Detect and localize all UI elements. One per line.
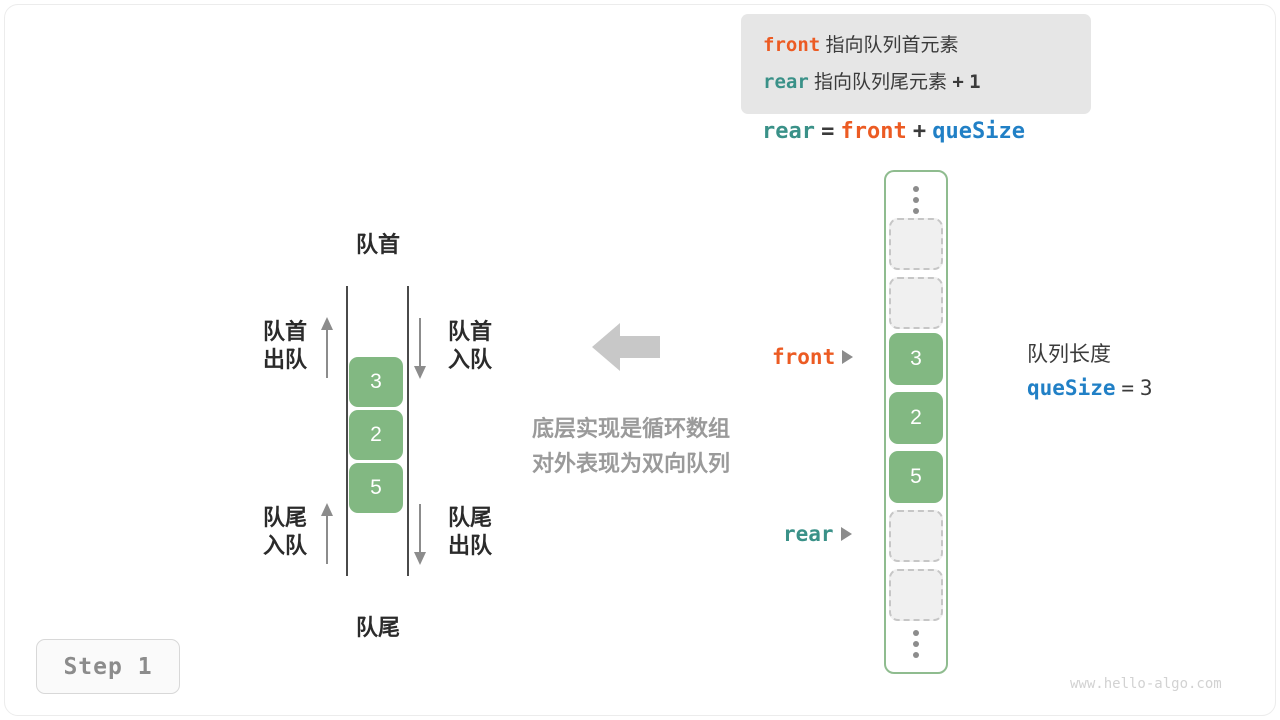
- quesize-value: 3: [1140, 376, 1153, 400]
- queue-length-annotation: 队列长度 queSize = 3: [1027, 340, 1153, 407]
- front-dequeue-label-line1: 队首: [249, 318, 307, 346]
- step-badge: Step 1: [36, 639, 180, 694]
- implementation-note-line1: 底层实现是循环数组: [495, 411, 767, 446]
- legend-desc-front: 指向队列首元素: [825, 35, 958, 56]
- front-enqueue-label-line2: 入队: [448, 346, 508, 374]
- legend-desc-rear: 指向队列尾元素: [814, 72, 947, 93]
- tail-enqueue-label-line2: 入队: [249, 532, 307, 560]
- tail-enqueue-label-line1: 队尾: [249, 504, 307, 532]
- diagram-canvas: front 指向队列首元素 rear 指向队列尾元素 + 1 rear = fr…: [0, 0, 1280, 720]
- implementation-note-line2: 对外表现为双向队列: [495, 446, 767, 481]
- quesize-equals: =: [1121, 376, 1134, 400]
- deque-cell-2: 5: [349, 463, 403, 513]
- array-slot-2: 3: [889, 333, 943, 385]
- array-slot-5: [889, 510, 943, 562]
- formula-quesize: queSize: [932, 119, 1025, 144]
- watermark: www.hello-algo.com: [1070, 676, 1222, 692]
- array-slot-1: [889, 277, 943, 329]
- formula-lhs-rear: rear: [762, 119, 815, 144]
- legend-suffix-op: +: [952, 71, 963, 93]
- deque-cell-0: 3: [349, 357, 403, 407]
- legend-line-front: front 指向队列首元素: [763, 27, 1091, 64]
- tail-dequeue-label-line1: 队尾: [448, 504, 508, 532]
- array-slot-0: [889, 218, 943, 270]
- step-badge-label: Step 1: [63, 654, 152, 680]
- array-slot-6: [889, 569, 943, 621]
- front-enqueue-label-line1: 队首: [448, 318, 508, 346]
- deque-cell-2-value: 5: [370, 476, 382, 500]
- deque-rail-left: [346, 286, 348, 576]
- quesize-variable-name: queSize: [1027, 376, 1116, 400]
- tail-dequeue-label: 队尾 出队: [448, 504, 508, 560]
- deque-cell-1: 2: [349, 410, 403, 460]
- legend-line-rear: rear 指向队列尾元素 + 1: [763, 64, 1091, 101]
- arrow-right-icon: [842, 350, 853, 364]
- array-slot-3: 2: [889, 392, 943, 444]
- rear-formula: rear = front + queSize: [762, 118, 1025, 144]
- array-slot-2-value: 3: [910, 347, 922, 371]
- queue-length-label: 队列长度: [1027, 340, 1153, 370]
- pointer-legend-box: front 指向队列首元素 rear 指向队列尾元素 + 1: [741, 14, 1091, 114]
- arrow-up-icon: [319, 503, 335, 565]
- circular-array-container: 3 2 5: [884, 170, 948, 674]
- array-slot-4-value: 5: [910, 465, 922, 489]
- front-dequeue-label: 队首 出队: [249, 318, 307, 374]
- legend-term-rear: rear: [763, 71, 809, 93]
- array-slot-4: 5: [889, 451, 943, 503]
- deque-cell-1-value: 2: [370, 423, 382, 447]
- arrow-down-icon: [412, 317, 428, 379]
- formula-equals: =: [821, 119, 834, 144]
- formula-front: front: [840, 119, 906, 144]
- front-pointer-label: front: [772, 345, 835, 369]
- ellipsis-top-icon: [913, 186, 919, 214]
- formula-plus: +: [913, 119, 926, 144]
- deque-head-label: 队首: [347, 227, 409, 259]
- front-enqueue-label: 队首 入队: [448, 318, 508, 374]
- deque-rail-right: [407, 286, 409, 576]
- implementation-note: 底层实现是循环数组 对外表现为双向队列: [495, 411, 767, 481]
- tail-dequeue-label-line2: 出队: [448, 532, 508, 560]
- legend-term-front: front: [763, 34, 820, 56]
- front-pointer: front: [772, 345, 853, 369]
- arrow-left-large-icon: [592, 322, 660, 372]
- queue-length-value-line: queSize = 3: [1027, 370, 1153, 407]
- deque-cell-0-value: 3: [370, 370, 382, 394]
- deque-tail-label: 队尾: [347, 610, 409, 642]
- legend-suffix-value: 1: [969, 71, 980, 93]
- arrow-down-icon: [412, 503, 428, 565]
- tail-enqueue-label: 队尾 入队: [249, 504, 307, 560]
- front-dequeue-label-line2: 出队: [249, 346, 307, 374]
- arrow-right-icon: [841, 527, 852, 541]
- array-slot-3-value: 2: [910, 406, 922, 430]
- arrow-up-icon: [319, 317, 335, 379]
- ellipsis-bottom-icon: [913, 630, 919, 658]
- rear-pointer: rear: [783, 522, 852, 546]
- rear-pointer-label: rear: [783, 522, 834, 546]
